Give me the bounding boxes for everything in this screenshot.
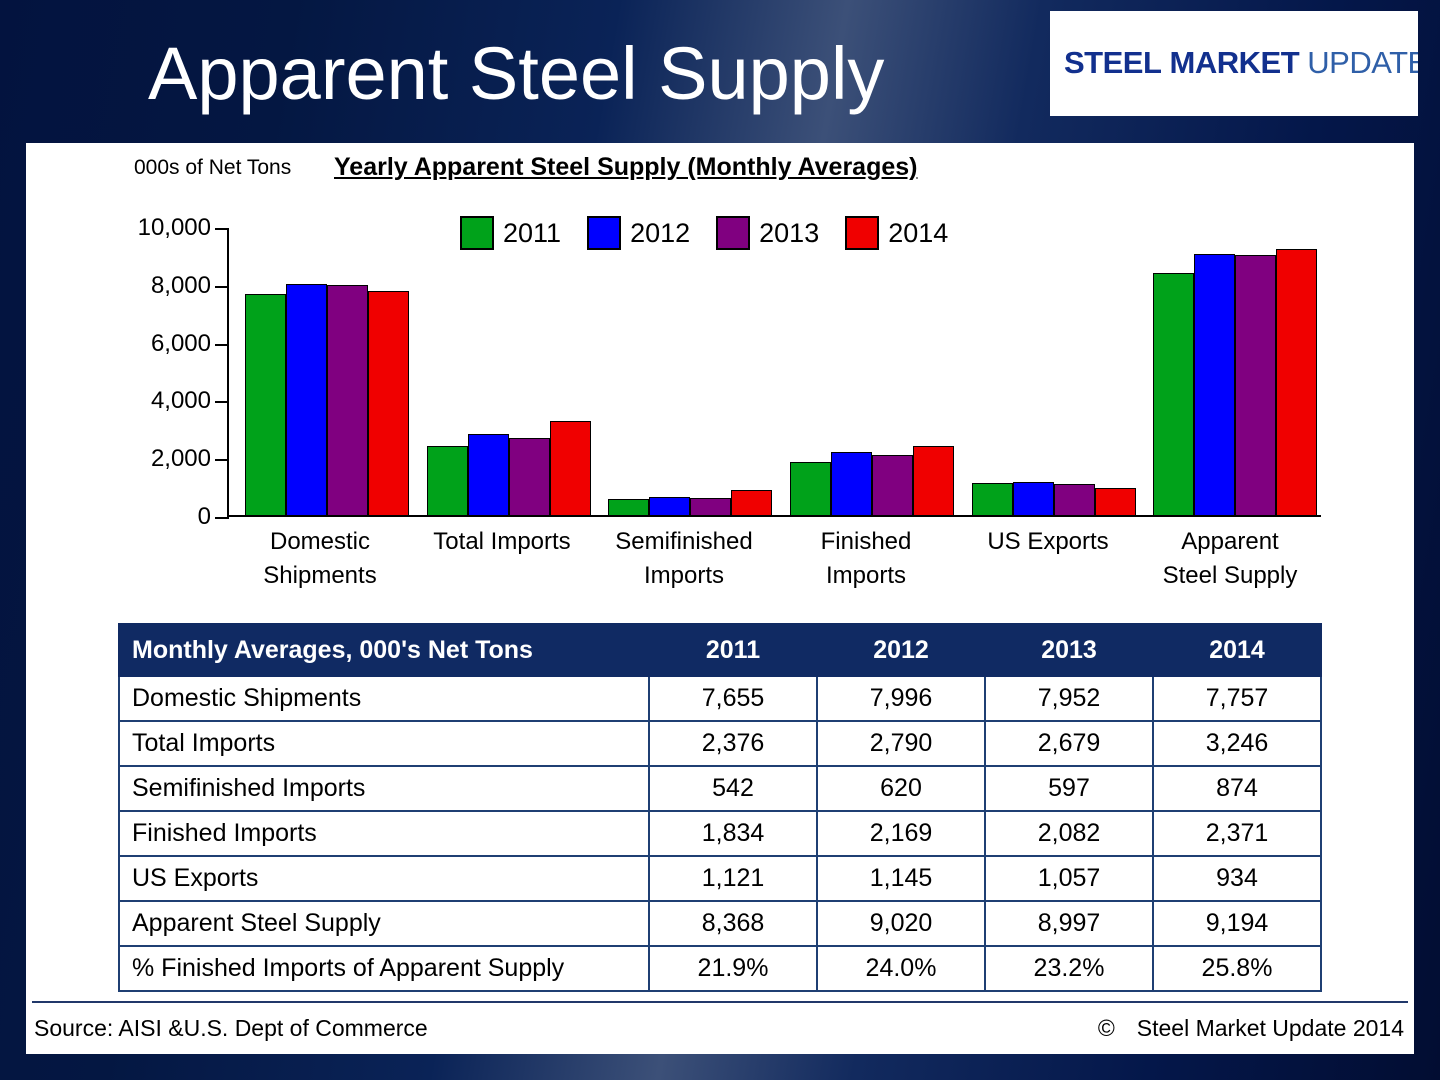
table-row-label: Finished Imports — [119, 811, 649, 856]
table-cell-value: 542 — [649, 766, 817, 811]
x-axis-label-3: FinishedImports — [775, 525, 957, 593]
bar-2011-5[interactable] — [1153, 273, 1194, 515]
table-cell-value: 24.0% — [817, 946, 985, 991]
table-header-year-2011: 2011 — [649, 624, 817, 676]
x-axis-label-line: Total Imports — [411, 525, 593, 559]
table-row-label: US Exports — [119, 856, 649, 901]
y-axis-label: 2,000 — [151, 445, 211, 473]
page-title: Apparent Steel Supply — [148, 28, 884, 120]
table-row: Domestic Shipments7,6557,9967,9527,757 — [119, 676, 1321, 721]
table-cell-value: 2,371 — [1153, 811, 1321, 856]
chart-unit-label: 000s of Net Tons — [134, 156, 291, 180]
table-cell-value: 21.9% — [649, 946, 817, 991]
bar-2014-2[interactable] — [731, 490, 772, 515]
y-axis-tick — [215, 517, 229, 519]
table-cell-value: 7,757 — [1153, 676, 1321, 721]
x-axis-label-line: Apparent — [1139, 525, 1321, 559]
table-cell-value: 874 — [1153, 766, 1321, 811]
bar-group-4 — [958, 226, 1140, 515]
logo-wordmark: STEEL MARKET UPDATE — [1064, 45, 1414, 81]
table-cell-value: 934 — [1153, 856, 1321, 901]
table-cell-value: 1,145 — [817, 856, 985, 901]
x-axis-label-4: US Exports — [957, 525, 1139, 593]
bar-group-2 — [594, 226, 776, 515]
table-cell-value: 23.2% — [985, 946, 1153, 991]
table-row: Semifinished Imports542620597874 — [119, 766, 1321, 811]
bar-group-3 — [776, 226, 958, 515]
bar-group-0 — [231, 226, 413, 515]
table-row-label: % Finished Imports of Apparent Supply — [119, 946, 649, 991]
bar-2012-3[interactable] — [831, 452, 872, 515]
x-axis-label-line: Finished — [775, 525, 957, 559]
x-axis-label-2: SemifinishedImports — [593, 525, 775, 593]
bar-2012-0[interactable] — [286, 284, 327, 515]
bar-2013-2[interactable] — [690, 498, 731, 515]
table-row-label: Apparent Steel Supply — [119, 901, 649, 946]
y-axis-label: 8,000 — [151, 272, 211, 300]
footer-divider — [32, 1001, 1408, 1003]
y-axis-tick — [215, 228, 229, 230]
bar-2012-4[interactable] — [1013, 482, 1054, 515]
x-axis-label-line: US Exports — [957, 525, 1139, 559]
bar-2011-3[interactable] — [790, 462, 831, 515]
x-axis-label-line: Shipments — [229, 559, 411, 593]
bar-chart: 000s of Net Tons Yearly Apparent Steel S… — [26, 143, 1414, 613]
table-cell-value: 7,952 — [985, 676, 1153, 721]
x-axis-labels: DomesticShipmentsTotal ImportsSemifinish… — [229, 525, 1321, 593]
bar-2011-0[interactable] — [245, 294, 286, 515]
table-body: Domestic Shipments7,6557,9967,9527,757To… — [119, 676, 1321, 991]
table-header-label: Monthly Averages, 000's Net Tons — [119, 624, 649, 676]
bars-container — [231, 226, 1321, 515]
table-row: Apparent Steel Supply8,3689,0208,9979,19… — [119, 901, 1321, 946]
x-axis-label-5: ApparentSteel Supply — [1139, 525, 1321, 593]
table-header: Monthly Averages, 000's Net Tons 2011201… — [119, 624, 1321, 676]
content-panel: 000s of Net Tons Yearly Apparent Steel S… — [26, 143, 1414, 1054]
bar-2013-4[interactable] — [1054, 484, 1095, 515]
table-row-label: Semifinished Imports — [119, 766, 649, 811]
table-cell-value: 2,082 — [985, 811, 1153, 856]
table-row-label: Total Imports — [119, 721, 649, 766]
y-axis-label: 4,000 — [151, 387, 211, 415]
table-cell-value: 597 — [985, 766, 1153, 811]
bar-group-5 — [1139, 226, 1321, 515]
logo-word-update: UPDATE — [1307, 45, 1418, 80]
x-axis-label-line: Imports — [593, 559, 775, 593]
table-cell-value: 2,790 — [817, 721, 985, 766]
y-axis-tick — [215, 344, 229, 346]
bar-2013-1[interactable] — [509, 438, 550, 515]
table-header-year-2012: 2012 — [817, 624, 985, 676]
y-axis-tick — [215, 459, 229, 461]
x-axis-label-line: Steel Supply — [1139, 559, 1321, 593]
y-axis-tick — [215, 401, 229, 403]
y-axis-label: 0 — [198, 503, 211, 531]
table-row-label: Domestic Shipments — [119, 676, 649, 721]
bar-2014-4[interactable] — [1095, 488, 1136, 515]
y-axis-label: 6,000 — [151, 330, 211, 358]
table-cell-value: 7,655 — [649, 676, 817, 721]
table-cell-value: 620 — [817, 766, 985, 811]
bar-2014-5[interactable] — [1276, 249, 1317, 515]
x-axis-label-line: Semifinished — [593, 525, 775, 559]
brand-logo: STEEL MARKET UPDATE — [1050, 11, 1418, 116]
table-cell-value: 9,194 — [1153, 901, 1321, 946]
x-axis-label-line: Imports — [775, 559, 957, 593]
table-cell-value: 7,996 — [817, 676, 985, 721]
table-cell-value: 1,057 — [985, 856, 1153, 901]
table-cell-value: 8,997 — [985, 901, 1153, 946]
table-cell-value: 1,834 — [649, 811, 817, 856]
bar-group-1 — [413, 226, 595, 515]
bar-2012-1[interactable] — [468, 434, 509, 515]
x-axis-label-0: DomesticShipments — [229, 525, 411, 593]
bar-2012-2[interactable] — [649, 497, 690, 515]
bar-2011-2[interactable] — [608, 499, 649, 515]
table-row: Finished Imports1,8342,1692,0822,371 — [119, 811, 1321, 856]
plot-area: 02,0004,0006,0008,00010,000 — [227, 228, 1321, 517]
bar-2011-4[interactable] — [972, 483, 1013, 515]
table-cell-value: 3,246 — [1153, 721, 1321, 766]
table-cell-value: 9,020 — [817, 901, 985, 946]
x-axis-label-1: Total Imports — [411, 525, 593, 593]
table-header-year-2013: 2013 — [985, 624, 1153, 676]
logo-word-market: MARKET — [1170, 45, 1300, 80]
bar-2013-0[interactable] — [327, 285, 368, 515]
x-axis-label-line: Domestic — [229, 525, 411, 559]
footer-source: Source: AISI &U.S. Dept of Commerce — [34, 1015, 428, 1042]
table-cell-value: 2,169 — [817, 811, 985, 856]
copyright-icon: © — [1098, 1015, 1115, 1041]
table-cell-value: 1,121 — [649, 856, 817, 901]
table-row: % Finished Imports of Apparent Supply21.… — [119, 946, 1321, 991]
table-header-year-2014: 2014 — [1153, 624, 1321, 676]
logo-word-steel: STEEL — [1064, 45, 1161, 80]
table-cell-value: 25.8% — [1153, 946, 1321, 991]
chart-title: Yearly Apparent Steel Supply (Monthly Av… — [334, 153, 917, 182]
footer-copyright: ©Steel Market Update 2014 — [1098, 1015, 1404, 1042]
bar-2013-3[interactable] — [872, 455, 913, 515]
bar-2014-3[interactable] — [913, 446, 954, 515]
bar-2011-1[interactable] — [427, 446, 468, 515]
table-cell-value: 2,376 — [649, 721, 817, 766]
y-axis-label: 10,000 — [138, 214, 211, 242]
table-cell-value: 2,679 — [985, 721, 1153, 766]
bar-2014-0[interactable] — [368, 291, 409, 515]
table-row: US Exports1,1211,1451,057934 — [119, 856, 1321, 901]
table-cell-value: 8,368 — [649, 901, 817, 946]
footer-copyright-text: Steel Market Update 2014 — [1137, 1015, 1404, 1041]
table-row: Total Imports2,3762,7902,6793,246 — [119, 721, 1321, 766]
bar-2014-1[interactable] — [550, 421, 591, 515]
slide-header: Apparent Steel Supply STEEL MARKET UPDAT… — [0, 0, 1440, 143]
y-axis-tick — [215, 286, 229, 288]
table-header-row: Monthly Averages, 000's Net Tons 2011201… — [119, 624, 1321, 676]
bar-2012-5[interactable] — [1194, 254, 1235, 515]
bar-2013-5[interactable] — [1235, 255, 1276, 515]
data-table: Monthly Averages, 000's Net Tons 2011201… — [118, 623, 1322, 992]
